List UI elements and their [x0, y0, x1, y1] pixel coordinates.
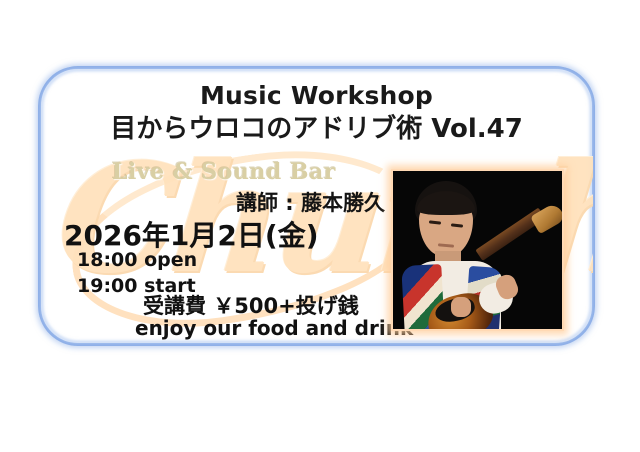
event-tagline: enjoy our food and drink: [135, 316, 413, 340]
guitar-headstock: [530, 202, 562, 234]
flyer-content-stage: Church Music Workshop 目からウロコのアドリブ術 Vol.4…: [40, 68, 593, 344]
performer-picking-hand: [451, 297, 471, 317]
headline-block: Music Workshop 目からウロコのアドリブ術 Vol.47: [40, 68, 593, 144]
event-open-time: 18:00 open: [77, 249, 197, 271]
flyer-root: Church Music Workshop 目からウロコのアドリブ術 Vol.4…: [0, 0, 640, 452]
title-english: Music Workshop: [40, 82, 593, 110]
venue-name: Live & Sound Bar: [112, 159, 336, 185]
event-date: 2026年1月2日(金): [64, 214, 319, 254]
title-japanese: 目からウロコのアドリブ術 Vol.47: [40, 115, 593, 145]
instructor-label: 講師 : 藤本勝久: [236, 187, 385, 217]
performer-photo-frame: [391, 169, 564, 331]
performer-photo: [393, 171, 562, 329]
